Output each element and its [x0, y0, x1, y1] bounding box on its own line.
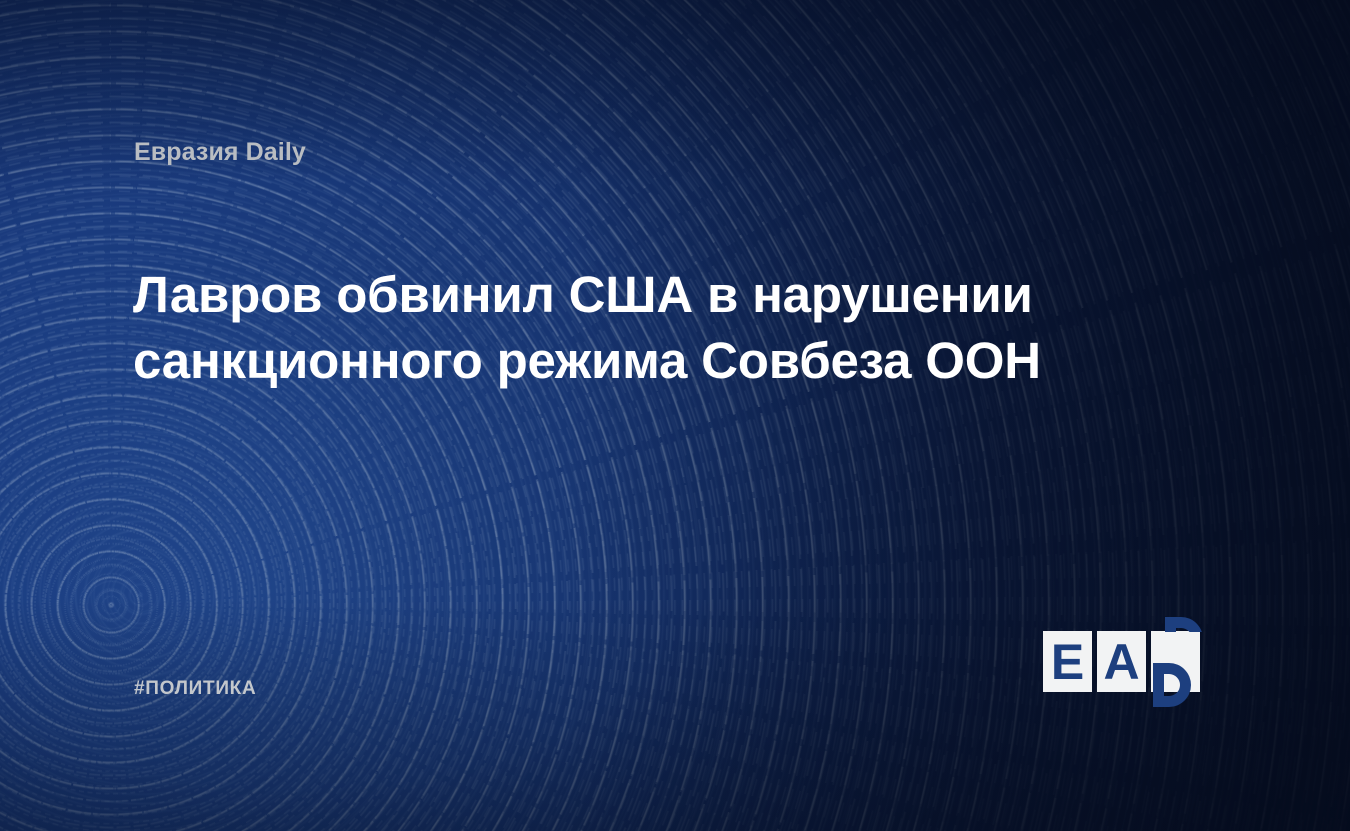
logo-tile-d: [1151, 631, 1200, 692]
site-name: Евразия Daily: [134, 138, 306, 167]
logo-tile-a: A: [1097, 631, 1146, 692]
card-content: Евразия Daily Лавров обвинил США в наруш…: [0, 0, 1350, 831]
headline: Лавров обвинил США в нарушении санкционн…: [133, 262, 1143, 395]
logo-tile-e: E: [1043, 631, 1092, 692]
eadaily-logo[interactable]: E A: [1043, 631, 1200, 692]
category-hashtag[interactable]: #ПОЛИТИКА: [134, 678, 256, 700]
letter-a-glyph: A: [1097, 631, 1146, 692]
letter-d-split-glyph: [1145, 613, 1207, 711]
news-card: Евразия Daily Лавров обвинил США в наруш…: [0, 0, 1350, 831]
letter-e-glyph: E: [1043, 631, 1092, 692]
